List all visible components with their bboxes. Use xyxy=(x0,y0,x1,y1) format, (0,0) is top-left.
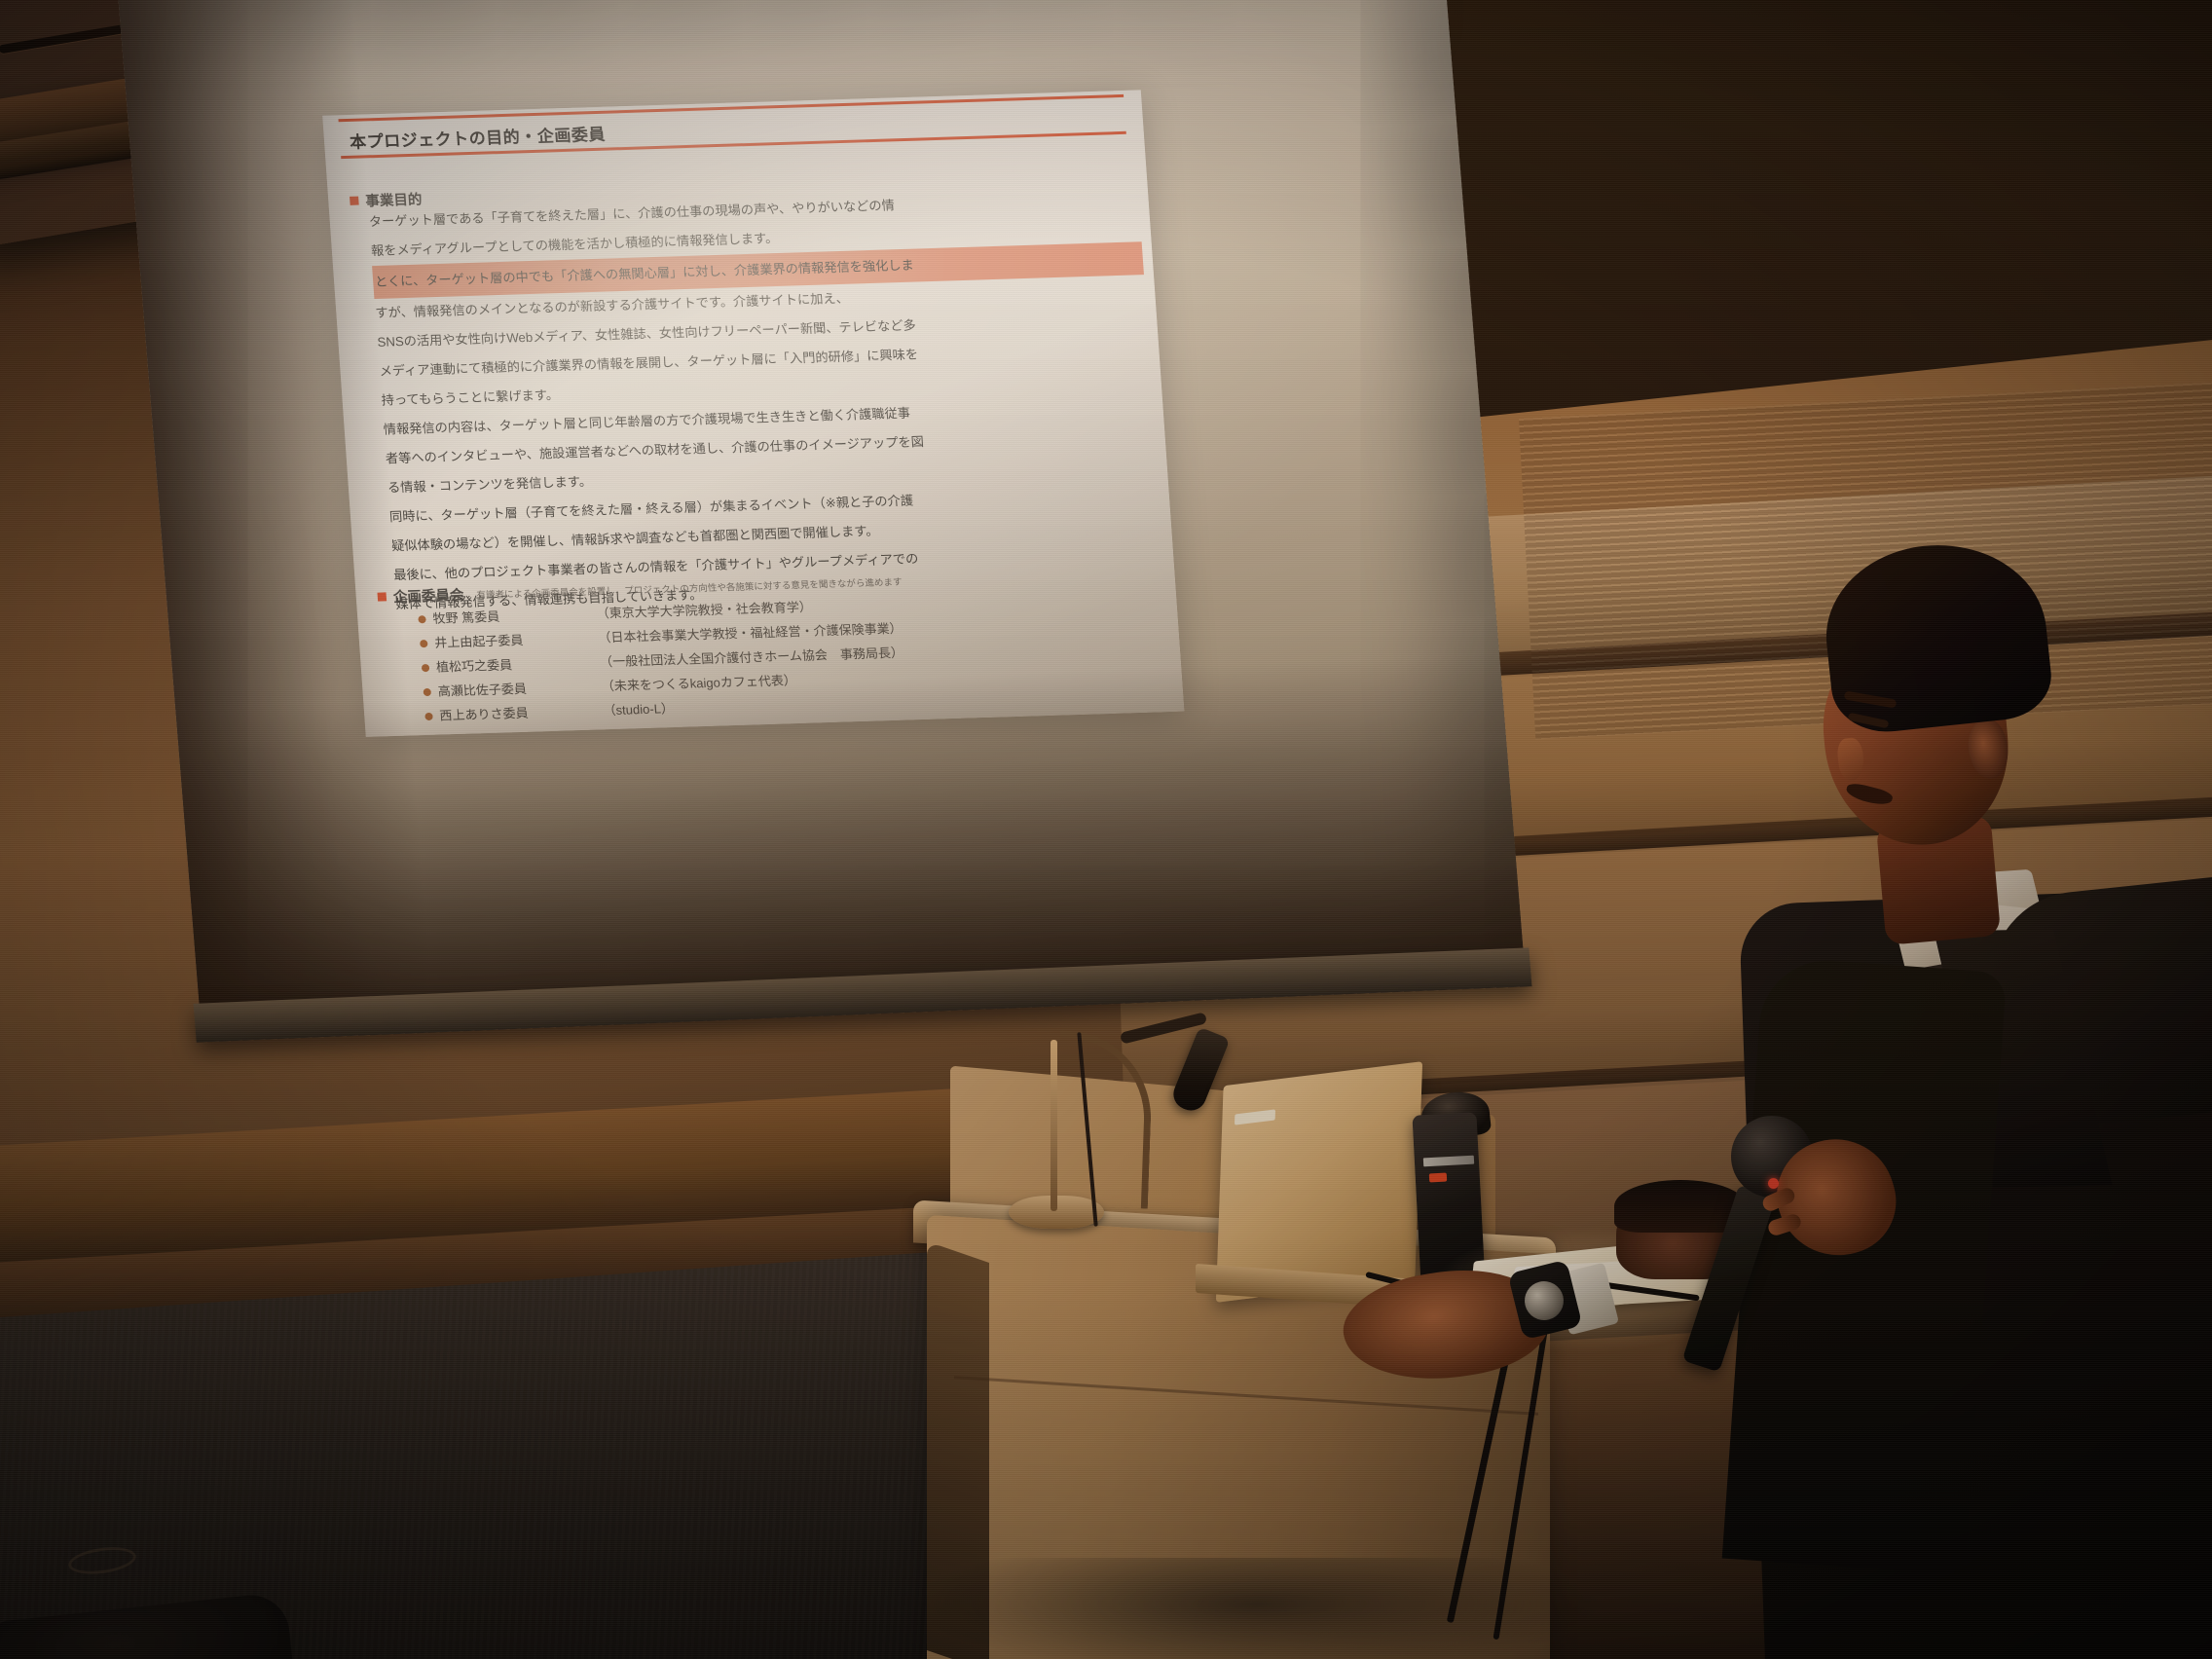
member-org: （studio-L） xyxy=(603,696,675,722)
presenter xyxy=(1791,545,2212,1659)
bullet-dot-icon xyxy=(420,640,428,647)
bullet-dot-icon xyxy=(418,615,426,623)
square-marker-icon xyxy=(378,592,387,601)
member-name: 西上ありさ委員 xyxy=(439,698,605,727)
projection-screen: 本プロジェクトの目的・企画委員 事業目的 ターゲット層である「子育てを終えた層」… xyxy=(117,0,1525,1029)
body-text-purpose: ターゲット層である「子育てを終えた層」に、介護の仕事の現場の声や、やりがいなどの… xyxy=(368,183,1166,619)
presenter-hair xyxy=(1818,535,2055,738)
bullet-dot-icon xyxy=(422,664,430,672)
section-heading-label: 企画委員会 xyxy=(392,584,464,607)
committee-member-list: 牧野 篤委員 （東京大学大学院教授・社会教育学） 井上由起子委員 （日本社会事業… xyxy=(418,592,908,728)
microphone-led-icon xyxy=(1768,1178,1779,1189)
lectern-shadow xyxy=(915,1558,1597,1659)
presentation-slide: 本プロジェクトの目的・企画委員 事業目的 ターゲット層である「子育てを終えた層」… xyxy=(322,90,1184,737)
square-marker-icon xyxy=(350,197,359,205)
presenter-arm xyxy=(1722,956,2008,1575)
device-record-led-icon xyxy=(1429,1173,1447,1183)
bullet-dot-icon xyxy=(424,713,433,720)
black-device xyxy=(1412,1112,1485,1286)
bullet-dot-icon xyxy=(424,688,432,696)
photo-scene: 本プロジェクトの目的・企画委員 事業目的 ターゲット層である「子育てを終えた層」… xyxy=(0,0,2212,1659)
